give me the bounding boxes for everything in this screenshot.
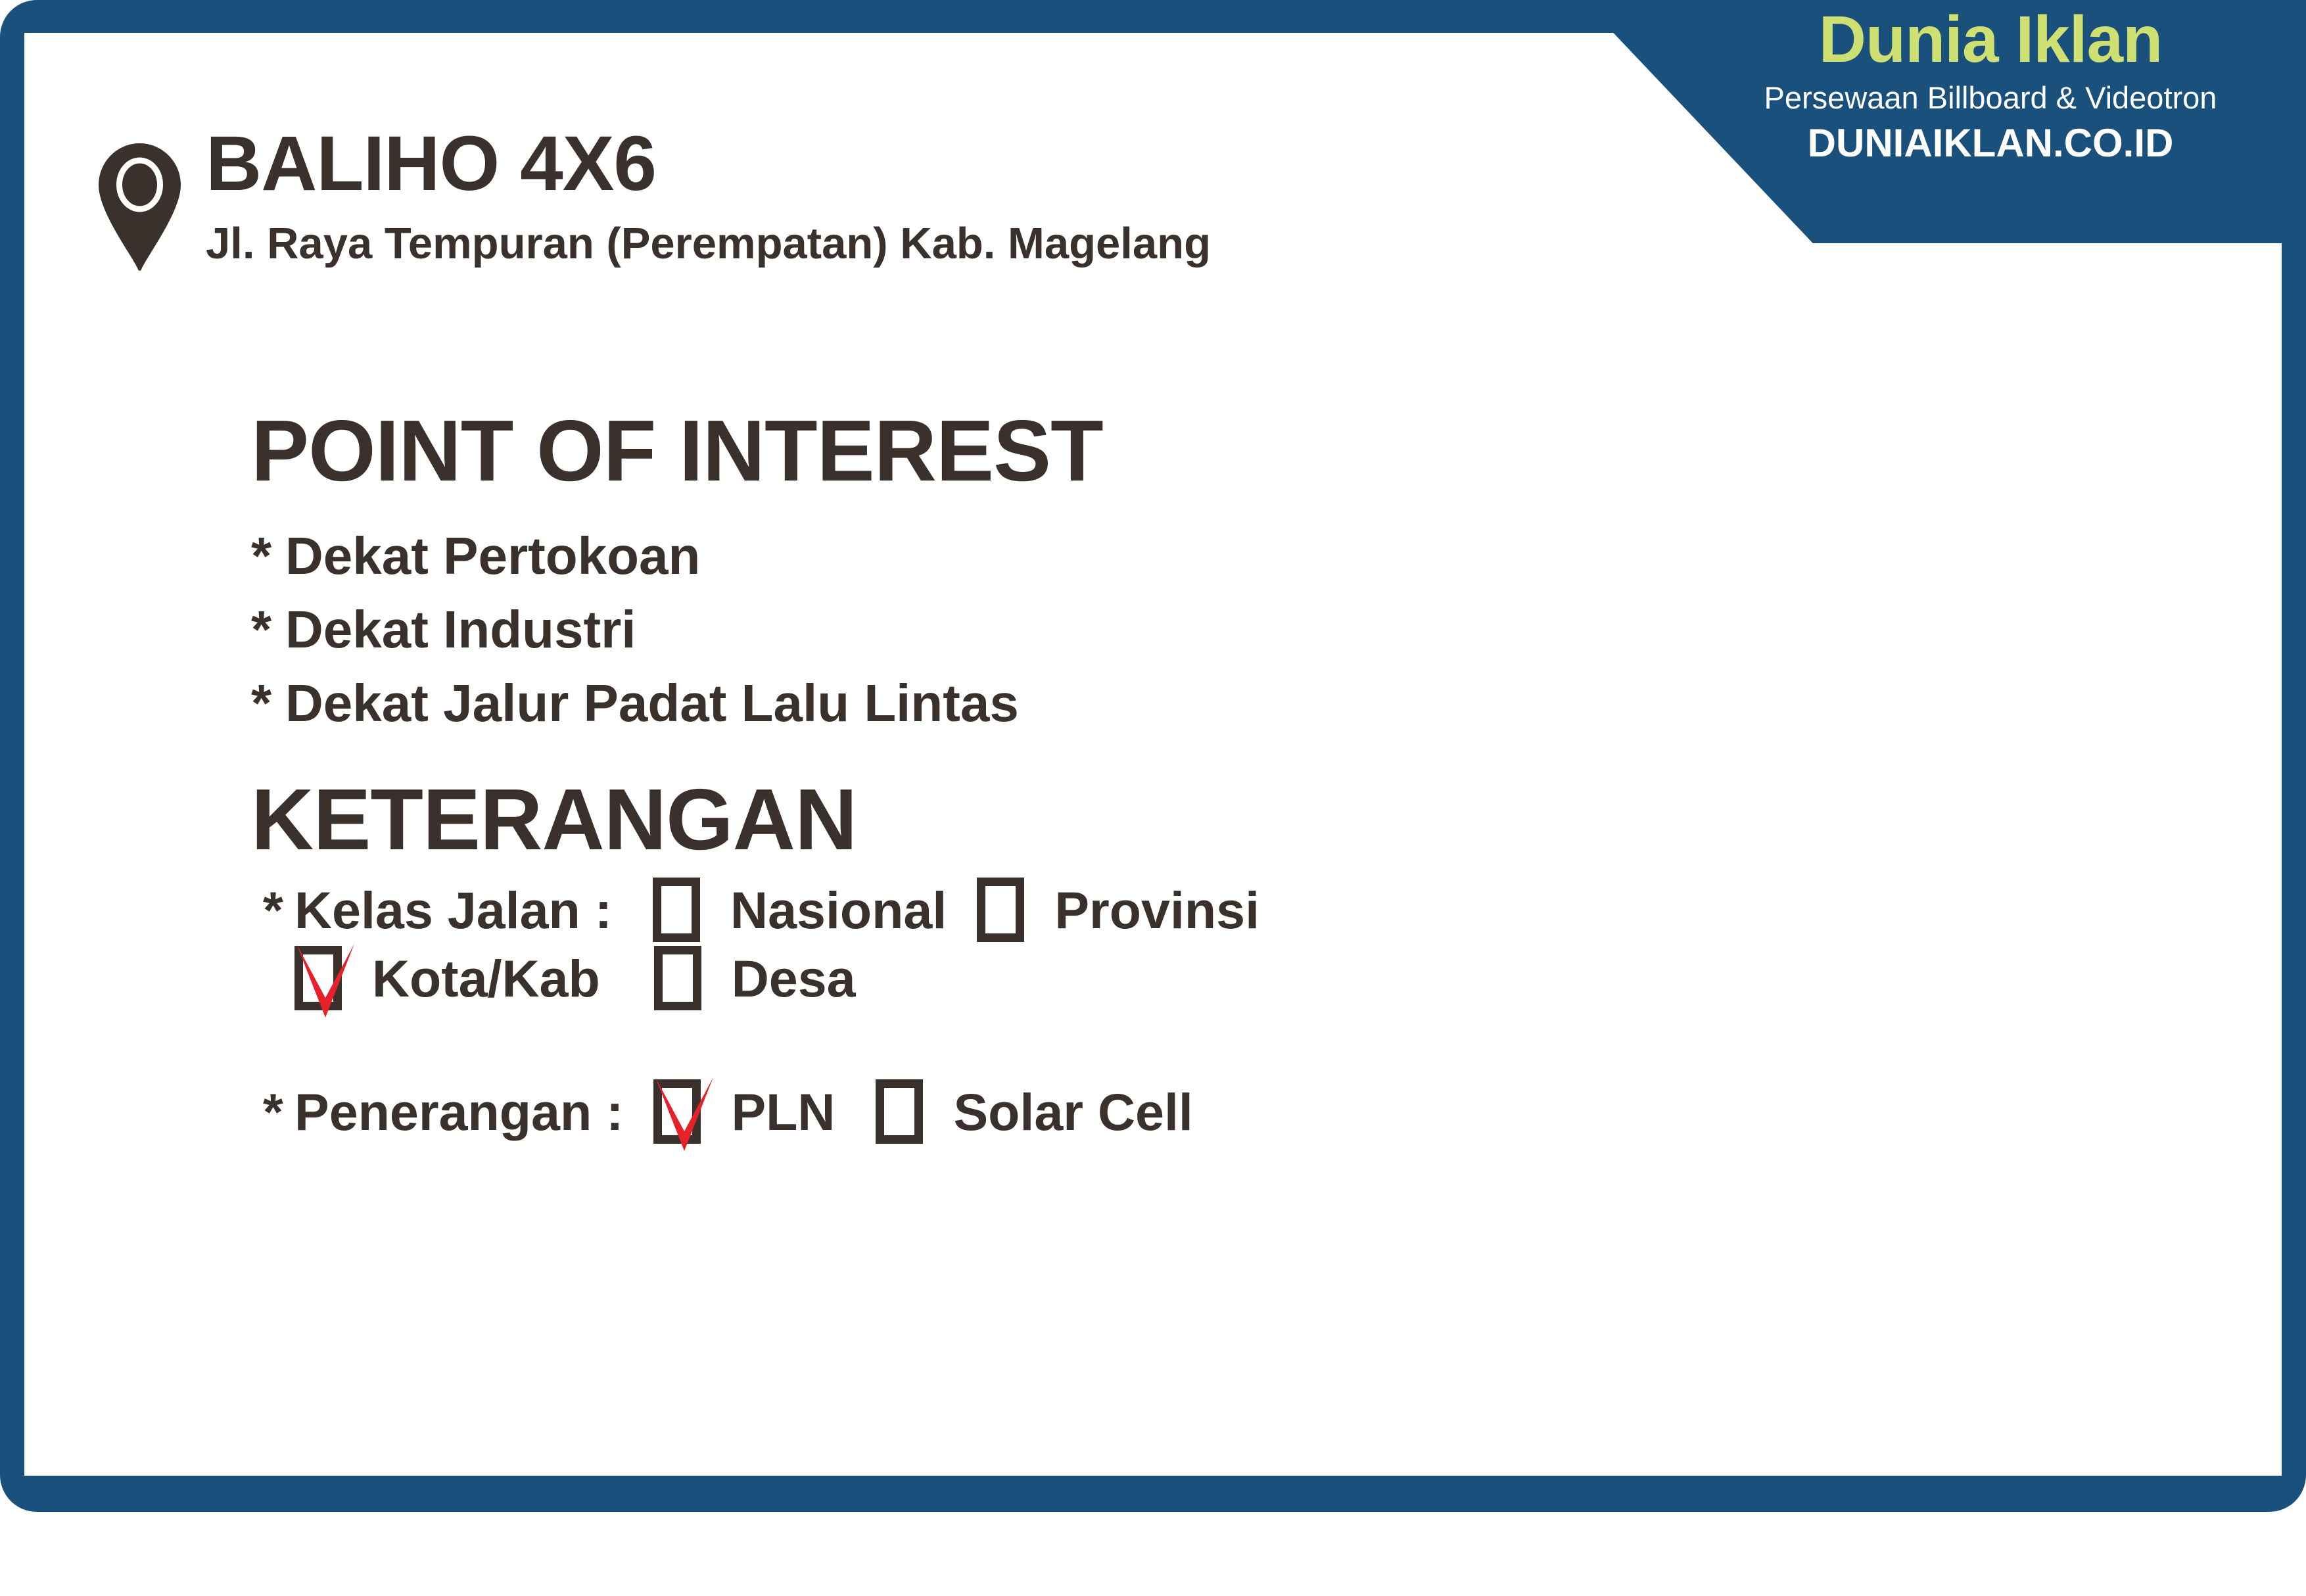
poi-list: *Dekat Pertokoan *Dekat Industri *Dekat …: [251, 519, 1259, 740]
checkbox-nasional[interactable]: [653, 878, 700, 942]
list-item: *Dekat Jalur Padat Lalu Lintas: [251, 667, 1259, 740]
header-text-group: BALIHO 4X6 Jl. Raya Tempuran (Perempatan…: [206, 125, 1211, 268]
penerangan-label: Penerangan :: [294, 1086, 623, 1138]
checkbox-pln[interactable]: [653, 1079, 701, 1144]
bullet-star-icon: *: [251, 593, 285, 667]
checkbox-label-nasional[interactable]: Nasional: [730, 884, 947, 936]
page-title: BALIHO 4X6: [206, 125, 1211, 202]
logo-block: Dunia Iklan Persewaan Billboard & Videot…: [1701, 7, 2280, 165]
bullet-star-icon: *: [263, 884, 294, 936]
list-item: *Dekat Industri: [251, 593, 1259, 667]
list-item: *Dekat Pertokoan: [251, 519, 1259, 593]
poi-item-label: Dekat Industri: [285, 600, 636, 659]
bullet-star-icon: *: [251, 519, 285, 593]
logo-website-url: DUNIAIKLAN.CO.ID: [1701, 122, 2280, 165]
check-mark-icon: [653, 1075, 716, 1151]
billboard-address: Jl. Raya Tempuran (Perempatan) Kab. Mage…: [206, 220, 1211, 268]
keterangan-heading: KETERANGAN: [251, 776, 1259, 863]
bullet-star-icon: *: [263, 1086, 294, 1138]
kelas-jalan-row-2: Kota/Kab Desa: [294, 946, 1259, 1010]
kelas-jalan-label: Kelas Jalan :: [294, 884, 612, 936]
logo-tagline: Persewaan Billboard & Videotron: [1701, 79, 2280, 118]
checkbox-label-kota-kab[interactable]: Kota/Kab: [372, 952, 600, 1004]
checkbox-label-solar-cell[interactable]: Solar Cell: [953, 1086, 1192, 1138]
poi-item-label: Dekat Pertokoan: [285, 527, 700, 585]
checkbox-solar-cell[interactable]: [876, 1079, 923, 1144]
card-content: POINT OF INTEREST *Dekat Pertokoan *Deka…: [251, 408, 1259, 1144]
checkbox-kota-kab[interactable]: [294, 946, 342, 1010]
bullet-star-icon: *: [251, 667, 285, 740]
checkbox-desa[interactable]: [654, 946, 701, 1010]
keterangan-form: * Kelas Jalan : Nasional Provinsi Kota/K…: [263, 878, 1259, 1144]
poi-item-label: Dekat Jalur Padat Lalu Lintas: [285, 674, 1019, 732]
logo-title: Dunia Iklan: [1701, 7, 2280, 72]
checkbox-label-provinsi[interactable]: Provinsi: [1054, 884, 1259, 936]
kelas-jalan-row-1: * Kelas Jalan : Nasional Provinsi: [263, 878, 1259, 942]
penerangan-row: * Penerangan : PLN Solar Cell: [263, 1079, 1259, 1144]
billboard-header: BALIHO 4X6 Jl. Raya Tempuran (Perempatan…: [99, 125, 1211, 271]
checkbox-label-pln[interactable]: PLN: [731, 1086, 835, 1138]
checkbox-label-desa[interactable]: Desa: [732, 952, 856, 1004]
checkbox-provinsi[interactable]: [977, 878, 1024, 942]
poi-heading: POINT OF INTEREST: [251, 408, 1259, 494]
check-mark-icon: [294, 941, 357, 1018]
location-pin-icon: [99, 143, 181, 271]
